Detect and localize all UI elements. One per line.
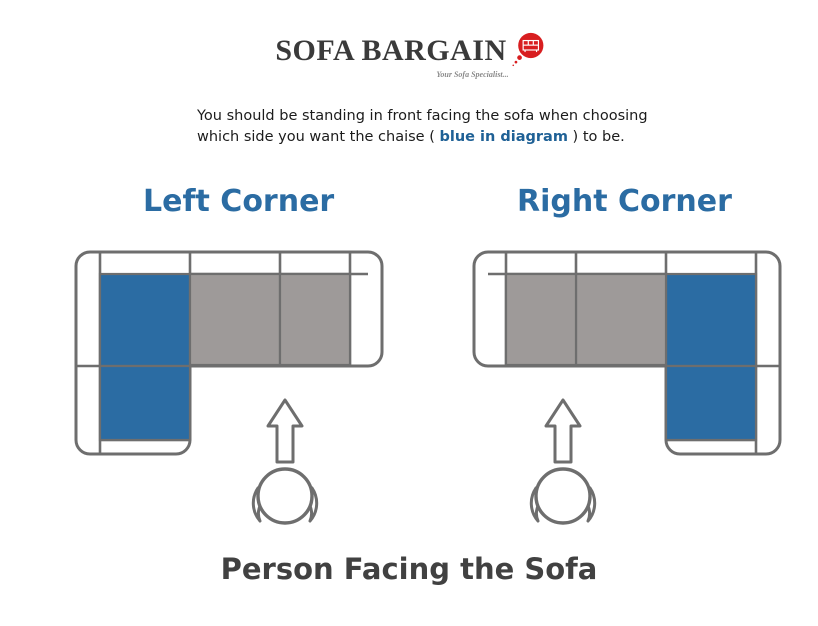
up-arrow-icon — [268, 400, 302, 462]
instruction-line-2-before: which side you want the chaise ( — [197, 129, 439, 145]
instruction-line-1: You should be standing in front facing t… — [197, 108, 648, 124]
person-head-icon — [258, 469, 312, 523]
chaise-cushion-upper — [100, 274, 190, 366]
instruction-highlight: blue in diagram — [439, 129, 567, 145]
logo-wordmark: SOFA BARGAIN — [275, 36, 506, 66]
brand-logo: SOFA BARGAIN Your Sofa Specialist... — [0, 36, 818, 66]
up-arrow-icon — [546, 400, 580, 462]
seat-cushion-2 — [506, 274, 576, 365]
person-marker-left-graphic — [230, 396, 340, 526]
person-marker-right-graphic — [508, 396, 618, 526]
chaise-cushion-upper — [666, 274, 756, 366]
seat-cushion-1 — [576, 274, 666, 365]
heading-right-corner: Right Corner — [517, 184, 732, 219]
instruction-line-2-after: ) to be. — [568, 129, 625, 145]
person-marker-right — [508, 396, 618, 526]
logo-inner: SOFA BARGAIN Your Sofa Specialist... — [275, 36, 542, 66]
right-corner-sofa-plan — [448, 244, 788, 459]
seat-cushion-2 — [280, 274, 350, 365]
sofa-in-red-circle-icon — [511, 32, 547, 68]
chaise-cushion-lower — [666, 366, 756, 440]
seat-cushion-1 — [190, 274, 280, 365]
instruction-paragraph: You should be standing in front facing t… — [197, 106, 667, 148]
chaise-cushion-lower — [100, 366, 190, 440]
bottom-caption: Person Facing the Sofa — [0, 552, 818, 586]
person-marker-left — [230, 396, 340, 526]
heading-left-corner: Left Corner — [143, 184, 334, 219]
logo-tagline: Your Sofa Specialist... — [436, 70, 508, 79]
person-head-icon — [536, 469, 590, 523]
right-corner-diagram — [448, 244, 788, 459]
